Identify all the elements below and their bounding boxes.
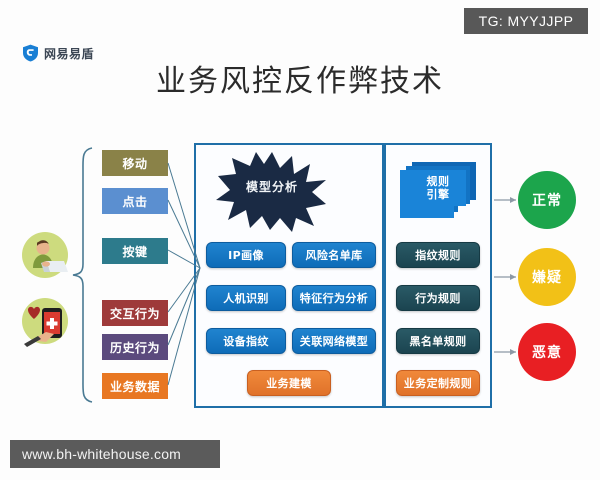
rule-box-fingerprint[interactable]: 指纹规则 [396, 242, 480, 268]
capability-box-human-machine[interactable]: 人机识别 [206, 285, 286, 311]
capability-box-graph-model[interactable]: 关联网络模型 [292, 328, 376, 354]
source-label-5-text: 业务数据 [110, 378, 160, 395]
source-label-2[interactable]: 按键 [102, 238, 168, 264]
site-watermark: www.bh-whitehouse.com [10, 440, 220, 468]
source-label-4-text: 历史行为 [110, 339, 160, 356]
source-label-1-text: 点击 [122, 193, 147, 210]
outcome-suspect[interactable]: 嫌疑 [518, 248, 576, 306]
outcome-label-2: 恶意 [532, 342, 562, 362]
outcome-label-0: 正常 [532, 190, 562, 210]
rule-box-behavior[interactable]: 行为规则 [396, 285, 480, 311]
outcome-label-1: 嫌疑 [532, 267, 562, 287]
source-group-brace [70, 146, 96, 404]
source-label-5[interactable]: 业务数据 [102, 373, 168, 399]
capability-box-behavior[interactable]: 特征行为分析 [292, 285, 376, 311]
custom-rules-button[interactable]: 业务定制规则 [396, 370, 480, 396]
source-label-3-text: 交互行为 [110, 305, 160, 322]
source-label-3[interactable]: 交互行为 [102, 300, 168, 326]
source-label-0-text: 移动 [122, 155, 147, 172]
capability-label-1: 风险名单库 [306, 247, 363, 263]
capability-label-3: 特征行为分析 [300, 290, 368, 306]
rules-engine-badge-label: 规则 引擎 [398, 175, 478, 201]
outcome-malicious[interactable]: 恶意 [518, 323, 576, 381]
rule-box-blacklist[interactable]: 黑名单规则 [396, 328, 480, 354]
outcome-arrows [494, 197, 516, 355]
business-modeling-button[interactable]: 业务建模 [247, 370, 331, 396]
source-label-2-text: 按键 [122, 243, 147, 260]
source-label-4[interactable]: 历史行为 [102, 334, 168, 360]
capability-label-2: 人机识别 [223, 290, 269, 306]
tg-watermark-badge: TG: MYYJJPP [464, 8, 588, 34]
rule-label-2: 黑名单规则 [410, 333, 467, 349]
rule-label-0: 指纹规则 [415, 247, 461, 263]
capability-box-ip-profile[interactable]: IP画像 [206, 242, 286, 268]
business-modeling-label: 业务建模 [266, 375, 312, 391]
infographic-canvas: TG: MYYJJPP 网易易盾 业务风控反作弊技术 [0, 0, 600, 480]
source-label-0[interactable]: 移动 [102, 150, 168, 176]
custom-rules-label: 业务定制规则 [404, 375, 472, 391]
rules-engine-badge-line1: 规则 [427, 175, 450, 188]
person-laptop-icon [16, 228, 72, 284]
model-analysis-badge-label: 模型分析 [216, 178, 328, 195]
source-label-1[interactable]: 点击 [102, 188, 168, 214]
capability-box-risk-list[interactable]: 风险名单库 [292, 242, 376, 268]
capability-label-5: 关联网络模型 [300, 333, 368, 349]
rules-engine-badge-line2: 引擎 [427, 188, 450, 201]
page-title: 业务风控反作弊技术 [0, 56, 600, 100]
capability-label-4: 设备指纹 [223, 333, 269, 349]
outcome-normal[interactable]: 正常 [518, 171, 576, 229]
mobile-payment-icon [16, 294, 72, 350]
capability-label-0: IP画像 [228, 247, 264, 263]
capability-box-device-fp[interactable]: 设备指纹 [206, 328, 286, 354]
rule-label-1: 行为规则 [415, 290, 461, 306]
